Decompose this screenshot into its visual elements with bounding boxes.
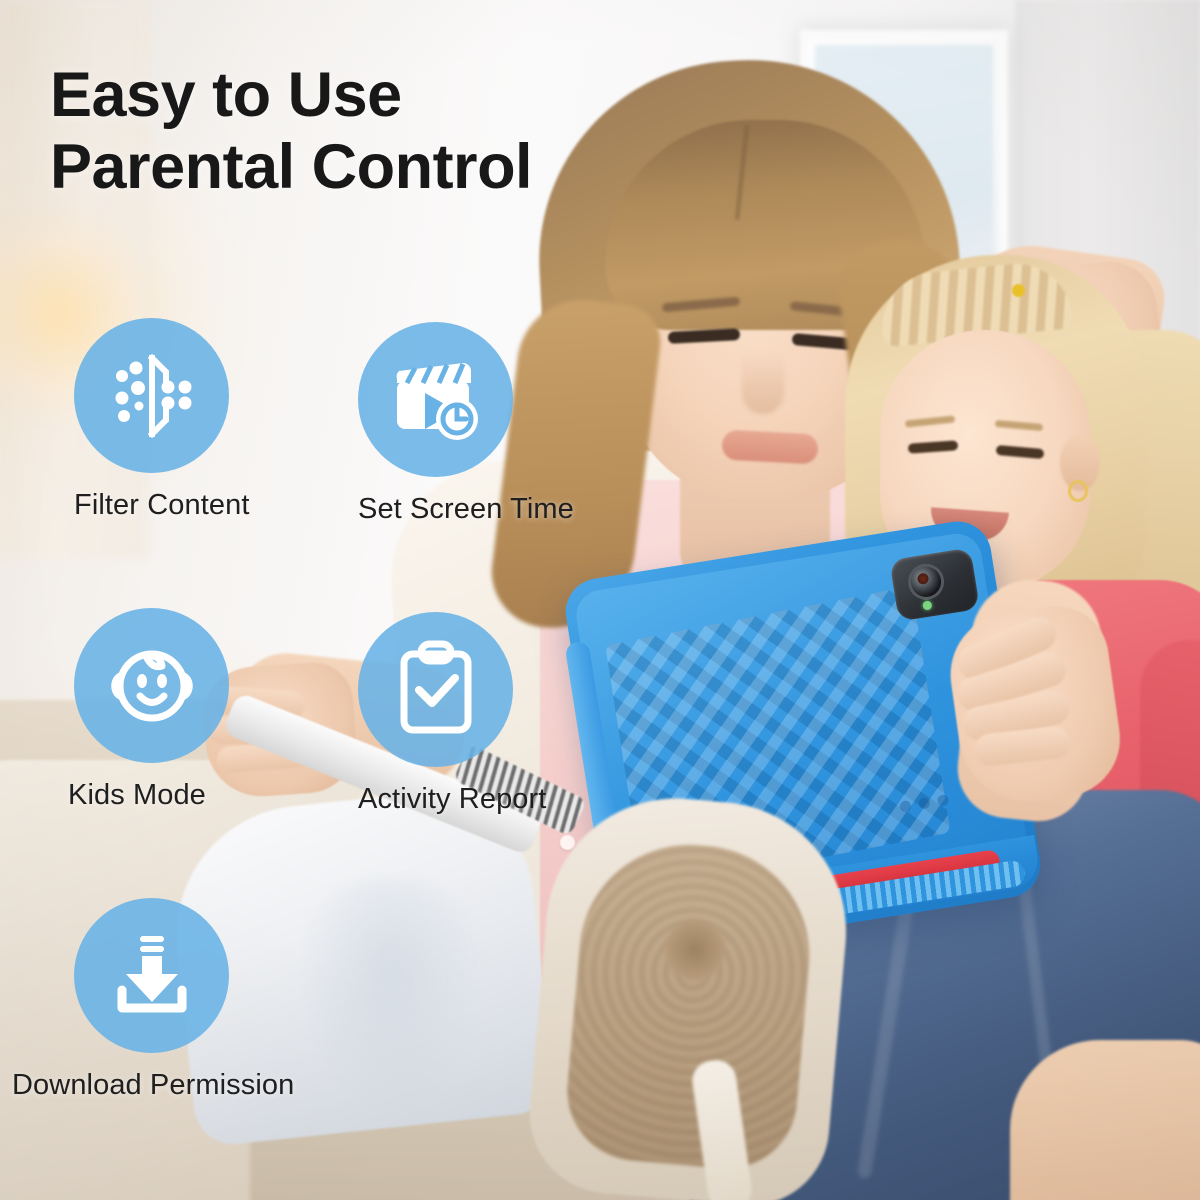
feature-filter-content[interactable]: Filter Content — [74, 318, 249, 522]
feature-label: Activity Report — [358, 783, 546, 816]
feature-label: Kids Mode — [68, 779, 229, 812]
feature-label: Set Screen Time — [358, 493, 574, 526]
download-tray-icon — [74, 898, 229, 1053]
clapperboard-clock-icon — [358, 322, 513, 477]
content-filter-icon — [74, 318, 229, 473]
feature-kids-mode[interactable]: Kids Mode — [74, 608, 229, 812]
product-marketing-image: Easy to Use Parental Control — [0, 0, 1200, 1200]
feature-list: Filter Content — [0, 0, 1200, 1200]
feature-label: Filter Content — [74, 489, 249, 522]
baby-face-icon — [74, 608, 229, 763]
feature-download-permission[interactable]: Download Permission — [74, 898, 294, 1102]
feature-label: Download Permission — [12, 1069, 294, 1102]
clipboard-check-icon — [358, 612, 513, 767]
feature-set-screen-time[interactable]: Set Screen Time — [358, 322, 574, 526]
feature-activity-report[interactable]: Activity Report — [358, 612, 546, 816]
